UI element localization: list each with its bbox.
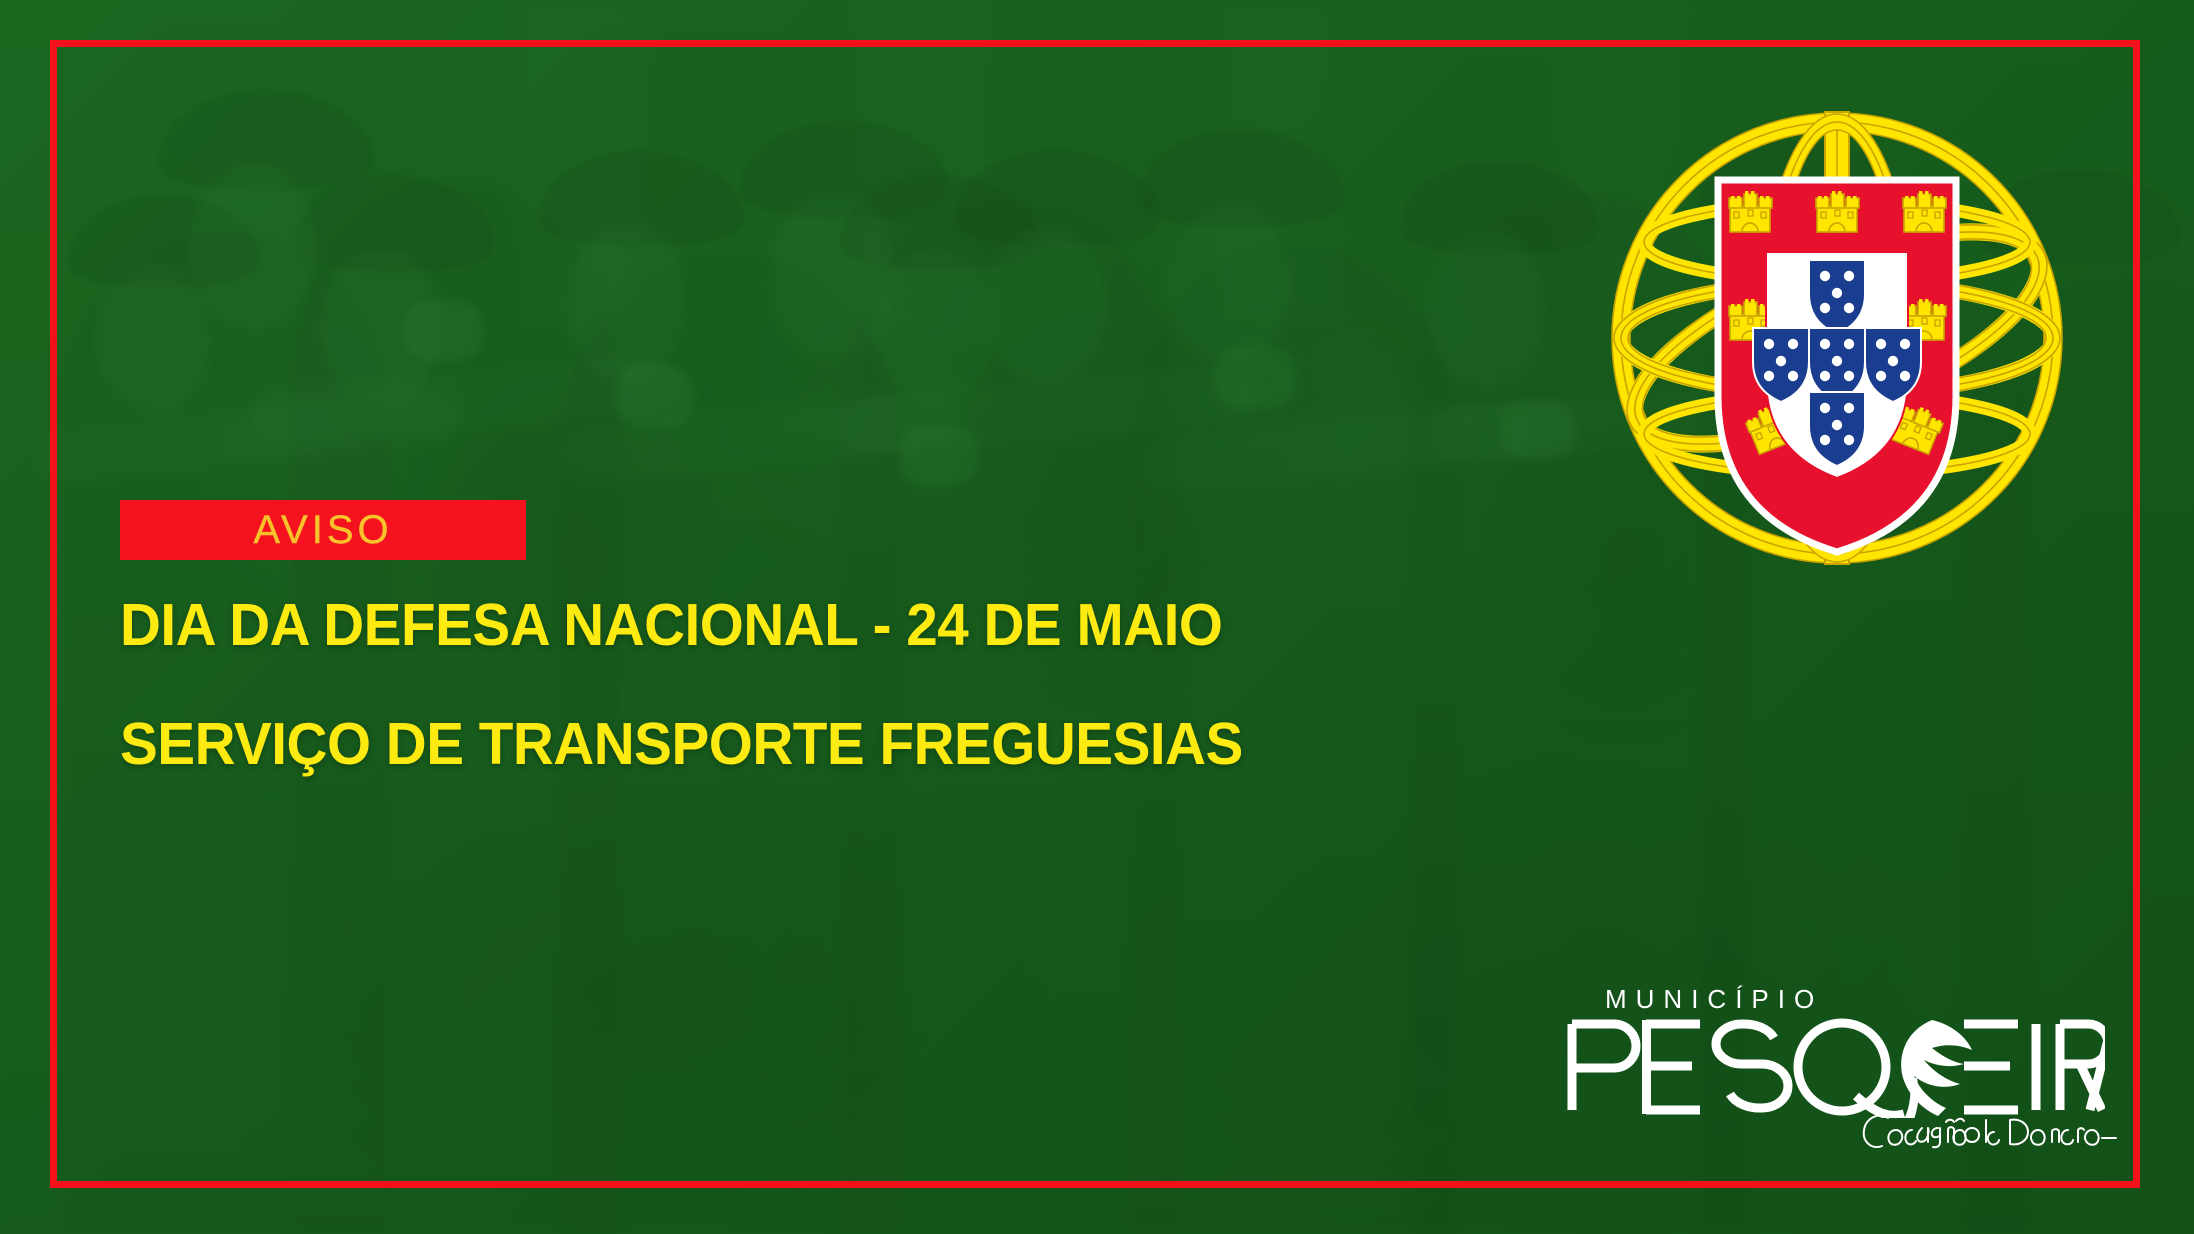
tree-leaf-icon bbox=[1896, 1020, 1972, 1118]
logo-tagline-coracao-do-douro bbox=[1860, 1108, 2120, 1156]
portuguese-coat-of-arms-icon bbox=[1600, 92, 2074, 584]
notice-poster: AVISO DIA DA DEFESA NACIONAL - 24 DE MAI… bbox=[0, 0, 2194, 1234]
aviso-label: AVISO bbox=[253, 510, 392, 550]
logo-wordmark-pesqueira bbox=[1560, 1018, 2105, 1118]
logo-eyebrow: MUNICÍPIO bbox=[1605, 984, 1823, 1015]
headline-primary: DIA DA DEFESA NACIONAL - 24 DE MAIO bbox=[120, 596, 1464, 655]
municipality-logo: MUNICÍPIO bbox=[1560, 980, 2120, 1140]
headline-secondary: SERVIÇO DE TRANSPORTE FREGUESIAS bbox=[120, 715, 1464, 774]
headline-block: DIA DA DEFESA NACIONAL - 24 DE MAIO SERV… bbox=[120, 596, 1520, 774]
aviso-badge: AVISO bbox=[120, 500, 526, 560]
portuguese-shield bbox=[1718, 180, 1956, 552]
